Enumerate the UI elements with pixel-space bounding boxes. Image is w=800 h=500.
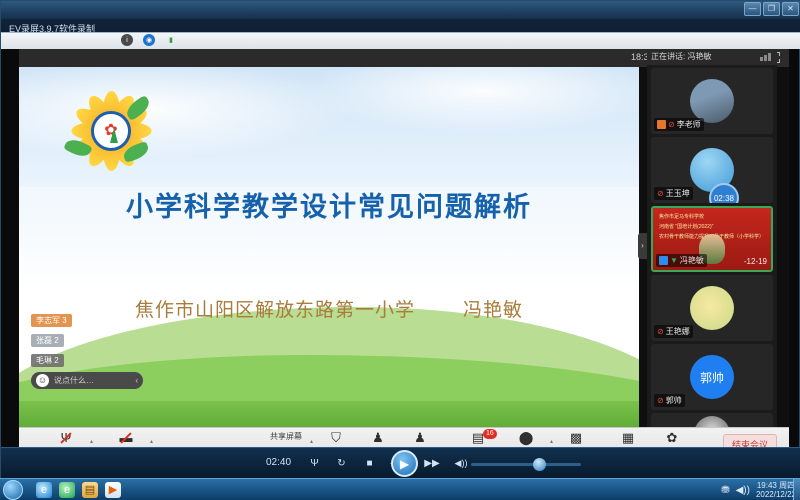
show-desktop-button[interactable] <box>793 479 800 500</box>
collapse-filmstrip-handle[interactable]: › <box>638 233 647 259</box>
participant-filmstrip: 正在讲话: 冯艳敏 ⊘ 李老师 02:38 ⊘ 王玉坤 <box>647 49 777 427</box>
network-quality-icon <box>760 53 771 61</box>
slide-presenter-name: 冯艳敏 <box>463 299 523 321</box>
mic-muted-icon: ⊘ <box>657 396 664 405</box>
window-controls: — ❐ ✕ <box>744 2 799 16</box>
play-button[interactable]: ▶ <box>391 450 418 477</box>
participant-tile[interactable]: ⊘ 王艳娜 <box>651 275 773 341</box>
internet-explorer-icon[interactable]: e <box>36 482 52 498</box>
people-icon: ♟ <box>391 430 449 445</box>
ev-player-bar: 02:40 Ψ ↻ ■ ◀◀ ▶ ▶▶ ◀)) <box>1 447 800 479</box>
mic-muted-icon: ⊘ <box>657 189 664 198</box>
slide-school-name: 焦作市山阳区解放东路第一小学 <box>135 299 415 321</box>
windows-taskbar: e e ▤ ▶ ⛃ ◀)) 19:43 周四 2022/12/22 <box>0 478 800 500</box>
volume-icon[interactable]: ◀)) <box>736 485 750 496</box>
person-icon <box>659 256 668 265</box>
participant-name: 王艳娜 <box>666 326 690 337</box>
stop-button[interactable]: ■ <box>361 455 378 472</box>
reaction-bubbles: 李志军 3 张磊 2 毛琳 2 ☺ 说点什么… ‹ <box>31 310 151 389</box>
thumb-line: 焦作市足马专科学校 <box>659 213 704 220</box>
ev-recorder-tools: i ◉ ▮ <box>121 34 177 46</box>
microphone-button[interactable]: Ψ <box>306 455 323 472</box>
emoji-icon[interactable]: ☺ <box>36 374 49 387</box>
chevron-up-icon[interactable]: ▴ <box>150 438 153 445</box>
close-button[interactable]: ✕ <box>782 2 799 16</box>
mic-muted-icon: ⊘ <box>657 327 664 336</box>
participant-badge: ⊘ 李老师 <box>654 118 704 131</box>
participant-name: 李老师 <box>677 119 701 130</box>
screen-root: — ❐ ✕ EV录屏3.9.7软件录制 i ◉ ▮ 18:37 演讲者视图 <box>0 0 800 500</box>
taskbar-clock[interactable]: 19:43 周四 2022/12/22 <box>756 481 796 499</box>
ev-recorder-tabstrip: i ◉ ▮ <box>1 32 800 49</box>
taskbar-quick-launch: e e ▤ ▶ <box>36 482 121 498</box>
avatar: 郭帅 <box>690 355 734 399</box>
360-browser-icon[interactable]: e <box>59 482 75 498</box>
shared-slide-stage: ✿ 小学科学教学设计常见问题解析 焦作市山阳区解放东路第一小学冯艳敏 李志军 3… <box>19 67 639 427</box>
slide-title: 小学科学教学设计常见问题解析 <box>19 185 639 224</box>
reaction-item: 李志军 3 <box>31 314 72 327</box>
breakout-icon: ▩ <box>547 430 605 445</box>
microphone-icon: Ψ <box>37 430 95 445</box>
start-button[interactable] <box>3 480 23 500</box>
volume-slider[interactable] <box>471 463 581 466</box>
info-icon[interactable]: i <box>121 34 133 46</box>
minimize-button[interactable]: — <box>744 2 761 16</box>
participant-badge: ⊘ 王艳娜 <box>654 325 693 338</box>
taskbar-date: 2022/12/22 <box>756 490 796 499</box>
participant-badge: ⊘ 王玉坤 <box>654 187 693 200</box>
chevron-up-icon[interactable]: ▴ <box>90 438 93 445</box>
thumb-line: 河南省 "国培计划(2022)" <box>659 223 713 230</box>
refresh-button[interactable]: ↻ <box>333 455 350 472</box>
ev-recorder-titlebar: — ❐ ✕ <box>1 1 800 19</box>
active-speaker-text: 正在讲话: 冯艳敏 <box>651 52 711 61</box>
avatar <box>690 79 734 123</box>
avatar <box>690 286 734 330</box>
shield-icon[interactable]: ◉ <box>143 34 155 46</box>
participant-name: 郭帅 <box>666 395 682 406</box>
participant-tile[interactable]: 郭帅 ⊘ 郭帅 <box>651 344 773 410</box>
network-icon[interactable]: ⛃ <box>721 485 729 496</box>
ev-recorder-appbar: EV录屏3.9.7软件录制 i ◉ ▮ <box>1 19 800 49</box>
reaction-item: 毛琳 2 <box>31 354 64 367</box>
camera-icon: ▬ <box>97 430 155 445</box>
slide-chat-input[interactable]: ☺ 说点什么… ‹ <box>31 372 143 389</box>
maximize-button[interactable]: ❐ <box>763 2 780 16</box>
chat-unread-badge: 16 <box>483 429 497 439</box>
host-icon <box>657 120 666 129</box>
sunflower-school-logo: ✿ <box>63 85 159 177</box>
volume-slider-knob[interactable] <box>533 458 546 471</box>
participant-badge: ⊘ 郭帅 <box>654 394 685 407</box>
participant-timestamp: -12-19 <box>744 257 767 266</box>
participant-badge: ▼ 冯艳敏 <box>656 254 707 267</box>
ev-recorder-window: — ❐ ✕ EV录屏3.9.7软件录制 i ◉ ▮ 18:37 演讲者视图 <box>0 0 800 478</box>
reaction-item: 张磊 2 <box>31 334 64 347</box>
participant-name: 王玉坤 <box>666 188 690 199</box>
player-elapsed-time: 02:40 <box>266 457 291 468</box>
participant-tile[interactable]: ⊘ 李老师 <box>651 68 773 134</box>
gear-icon: ✿ <box>643 430 701 445</box>
slide-grass-strip <box>19 401 639 427</box>
system-tray: ⛃ ◀)) 19:43 周四 2022/12/22 <box>721 481 796 499</box>
chevron-left-icon[interactable]: ‹ <box>135 376 138 385</box>
mic-muted-icon: ⊘ <box>668 120 675 129</box>
chat-input-placeholder: 说点什么… <box>54 375 130 386</box>
volume-button[interactable]: ◀)) <box>451 455 471 472</box>
forward-button[interactable]: ▶▶ <box>421 455 443 472</box>
file-explorer-icon[interactable]: ▤ <box>82 482 98 498</box>
mic-active-icon: ▼ <box>670 256 678 265</box>
media-player-icon[interactable]: ▶ <box>105 482 121 498</box>
signal-icon[interactable]: ▮ <box>165 34 177 46</box>
participant-tile-active-speaker[interactable]: 焦作市足马专科学校 河南省 "国培计划(2022)" 农村骨干教师能力提升—骨干… <box>651 206 773 272</box>
taskbar-time: 19:43 周四 <box>757 481 795 490</box>
participant-tile[interactable]: 02:38 ⊘ 王玉坤 <box>651 137 773 203</box>
speaking-timer: 02:38 <box>709 183 739 203</box>
active-speaker-label: 正在讲话: 冯艳敏 <box>647 49 777 65</box>
school-emblem-icon: ✿ <box>91 111 131 151</box>
participant-name: 冯艳敏 <box>680 255 704 266</box>
